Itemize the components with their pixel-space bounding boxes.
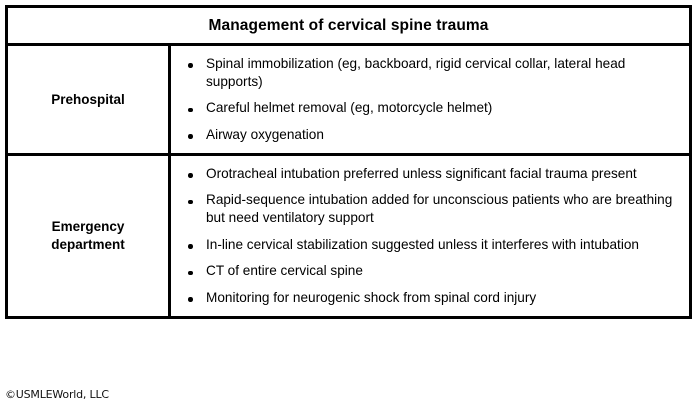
list-item: Rapid-sequence intubation added for unco…	[185, 191, 679, 226]
bullet-list-emergency-department: Orotracheal intubation preferred unless …	[185, 165, 679, 307]
list-item-text: CT of entire cervical spine	[206, 263, 363, 278]
bullet-dot-icon	[188, 134, 193, 139]
bullet-dot-icon	[188, 297, 193, 302]
list-item-text: Rapid-sequence intubation added for unco…	[206, 192, 672, 225]
bullet-dot-icon	[188, 271, 193, 276]
table-row: Emergency department Orotracheal intubat…	[7, 154, 691, 317]
table-title-row: Management of cervical spine trauma	[7, 7, 691, 45]
row-content-emergency-department: Orotracheal intubation preferred unless …	[170, 154, 691, 317]
list-item-text: Airway oxygenation	[206, 127, 324, 142]
bullet-dot-icon	[188, 63, 193, 68]
bullet-list-prehospital: Spinal immobilization (eg, backboard, ri…	[185, 55, 679, 144]
row-label-prehospital: Prehospital	[7, 45, 170, 155]
list-item: Careful helmet removal (eg, motorcycle h…	[185, 99, 679, 117]
bullet-dot-icon	[188, 108, 193, 113]
management-table: Management of cervical spine trauma Preh…	[5, 5, 692, 319]
row-content-prehospital: Spinal immobilization (eg, backboard, ri…	[170, 45, 691, 155]
bullet-dot-icon	[188, 200, 193, 205]
row-label-line-2: department	[51, 237, 125, 252]
list-item-text: In-line cervical stabilization suggested…	[206, 237, 639, 252]
bullet-dot-icon	[188, 173, 193, 178]
figure-container: Management of cervical spine trauma Preh…	[0, 0, 700, 404]
list-item: Spinal immobilization (eg, backboard, ri…	[185, 55, 679, 90]
list-item: CT of entire cervical spine	[185, 262, 679, 280]
table-title: Management of cervical spine trauma	[7, 7, 691, 45]
list-item: Orotracheal intubation preferred unless …	[185, 165, 679, 183]
list-item-text: Spinal immobilization (eg, backboard, ri…	[206, 56, 625, 89]
row-label-line-1: Emergency	[52, 219, 125, 234]
list-item: In-line cervical stabilization suggested…	[185, 236, 679, 254]
list-item-text: Monitoring for neurogenic shock from spi…	[206, 290, 536, 305]
list-item: Airway oxygenation	[185, 126, 679, 144]
list-item-text: Orotracheal intubation preferred unless …	[206, 166, 637, 181]
copyright-notice: ©USMLEWorld, LLC	[5, 388, 109, 401]
bullet-dot-icon	[188, 244, 193, 249]
list-item-text: Careful helmet removal (eg, motorcycle h…	[206, 100, 492, 115]
table-row: Prehospital Spinal immobilization (eg, b…	[7, 45, 691, 155]
list-item: Monitoring for neurogenic shock from spi…	[185, 289, 679, 307]
row-label-emergency-department: Emergency department	[7, 154, 170, 317]
